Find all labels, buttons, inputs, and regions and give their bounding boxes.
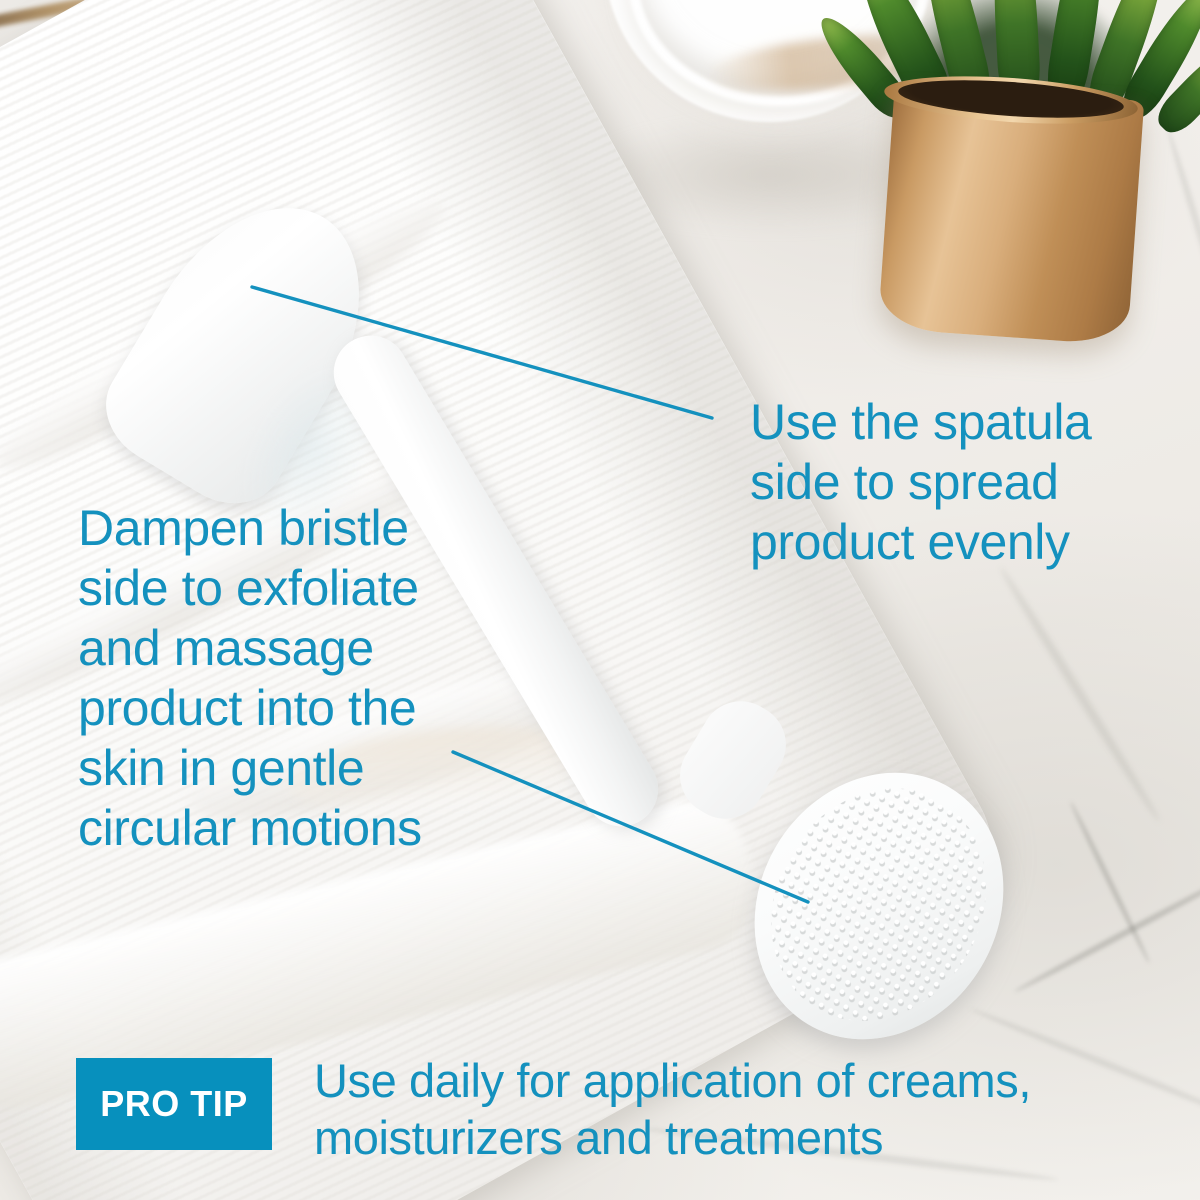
leader-line-spatula — [252, 287, 712, 418]
pro-tip-badge-label: PRO TIP — [100, 1083, 248, 1125]
instruction-graphic: Use the spatula side to spread product e… — [0, 0, 1200, 1200]
annotation-spatula-note: Use the spatula side to spread product e… — [750, 392, 1150, 572]
leader-line-bristle — [453, 752, 808, 902]
annotation-bristle-note: Dampen bristle side to exfoliate and mas… — [78, 498, 498, 858]
pro-tip-text: Use daily for application of creams, moi… — [314, 1052, 1174, 1166]
pro-tip-badge: PRO TIP — [76, 1058, 272, 1150]
